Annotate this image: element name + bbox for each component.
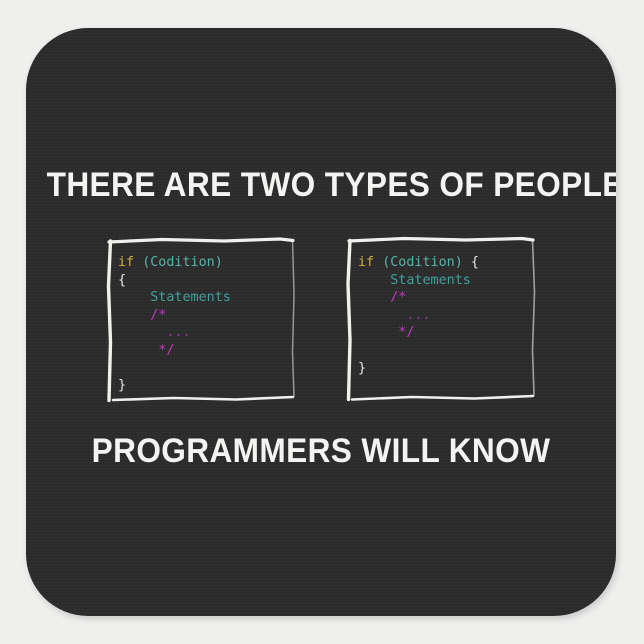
code-token-keyword: if — [358, 255, 382, 270]
code-token-brace: } — [358, 361, 366, 376]
code-token-brace: { — [463, 255, 479, 270]
code-token-brace: } — [118, 378, 126, 393]
canvas: THERE ARE TWO TYPES OF PEOPLE if (Coditi… — [0, 0, 644, 644]
code-comparison-row: if (Codition) { Statements /* ... */ } i… — [26, 234, 616, 416]
code-token-comment_dots: ... — [358, 308, 431, 323]
code-token-condition: (Codition) — [382, 255, 463, 270]
code-token-comment_dots: ... — [118, 325, 191, 340]
code-block-allman: if (Codition) { Statements /* ... */ } — [104, 234, 298, 410]
code-token-brace: { — [118, 273, 126, 288]
headline-bottom: PROGRAMMERS WILL KNOW — [47, 432, 596, 471]
code-token-identifier: Statements — [118, 290, 231, 305]
code-token-comment: */ — [118, 343, 174, 358]
code-token-comment: /* — [118, 308, 166, 323]
code-panel-allman: if (Codition) { Statements /* ... */ } — [104, 234, 298, 410]
code-token-condition: (Codition) — [142, 255, 223, 270]
code-token-comment: /* — [358, 290, 406, 305]
code-panel-knr: if (Codition) { Statements /* ... */ } — [344, 234, 538, 410]
code-token-identifier: Statements — [358, 273, 471, 288]
sticker-artwork: THERE ARE TWO TYPES OF PEOPLE if (Coditi… — [26, 28, 616, 616]
code-token-keyword: if — [118, 255, 142, 270]
code-block-knr: if (Codition) { Statements /* ... */ } — [344, 234, 538, 410]
headline-top: THERE ARE TWO TYPES OF PEOPLE — [47, 166, 596, 205]
code-token-comment: */ — [358, 325, 414, 340]
